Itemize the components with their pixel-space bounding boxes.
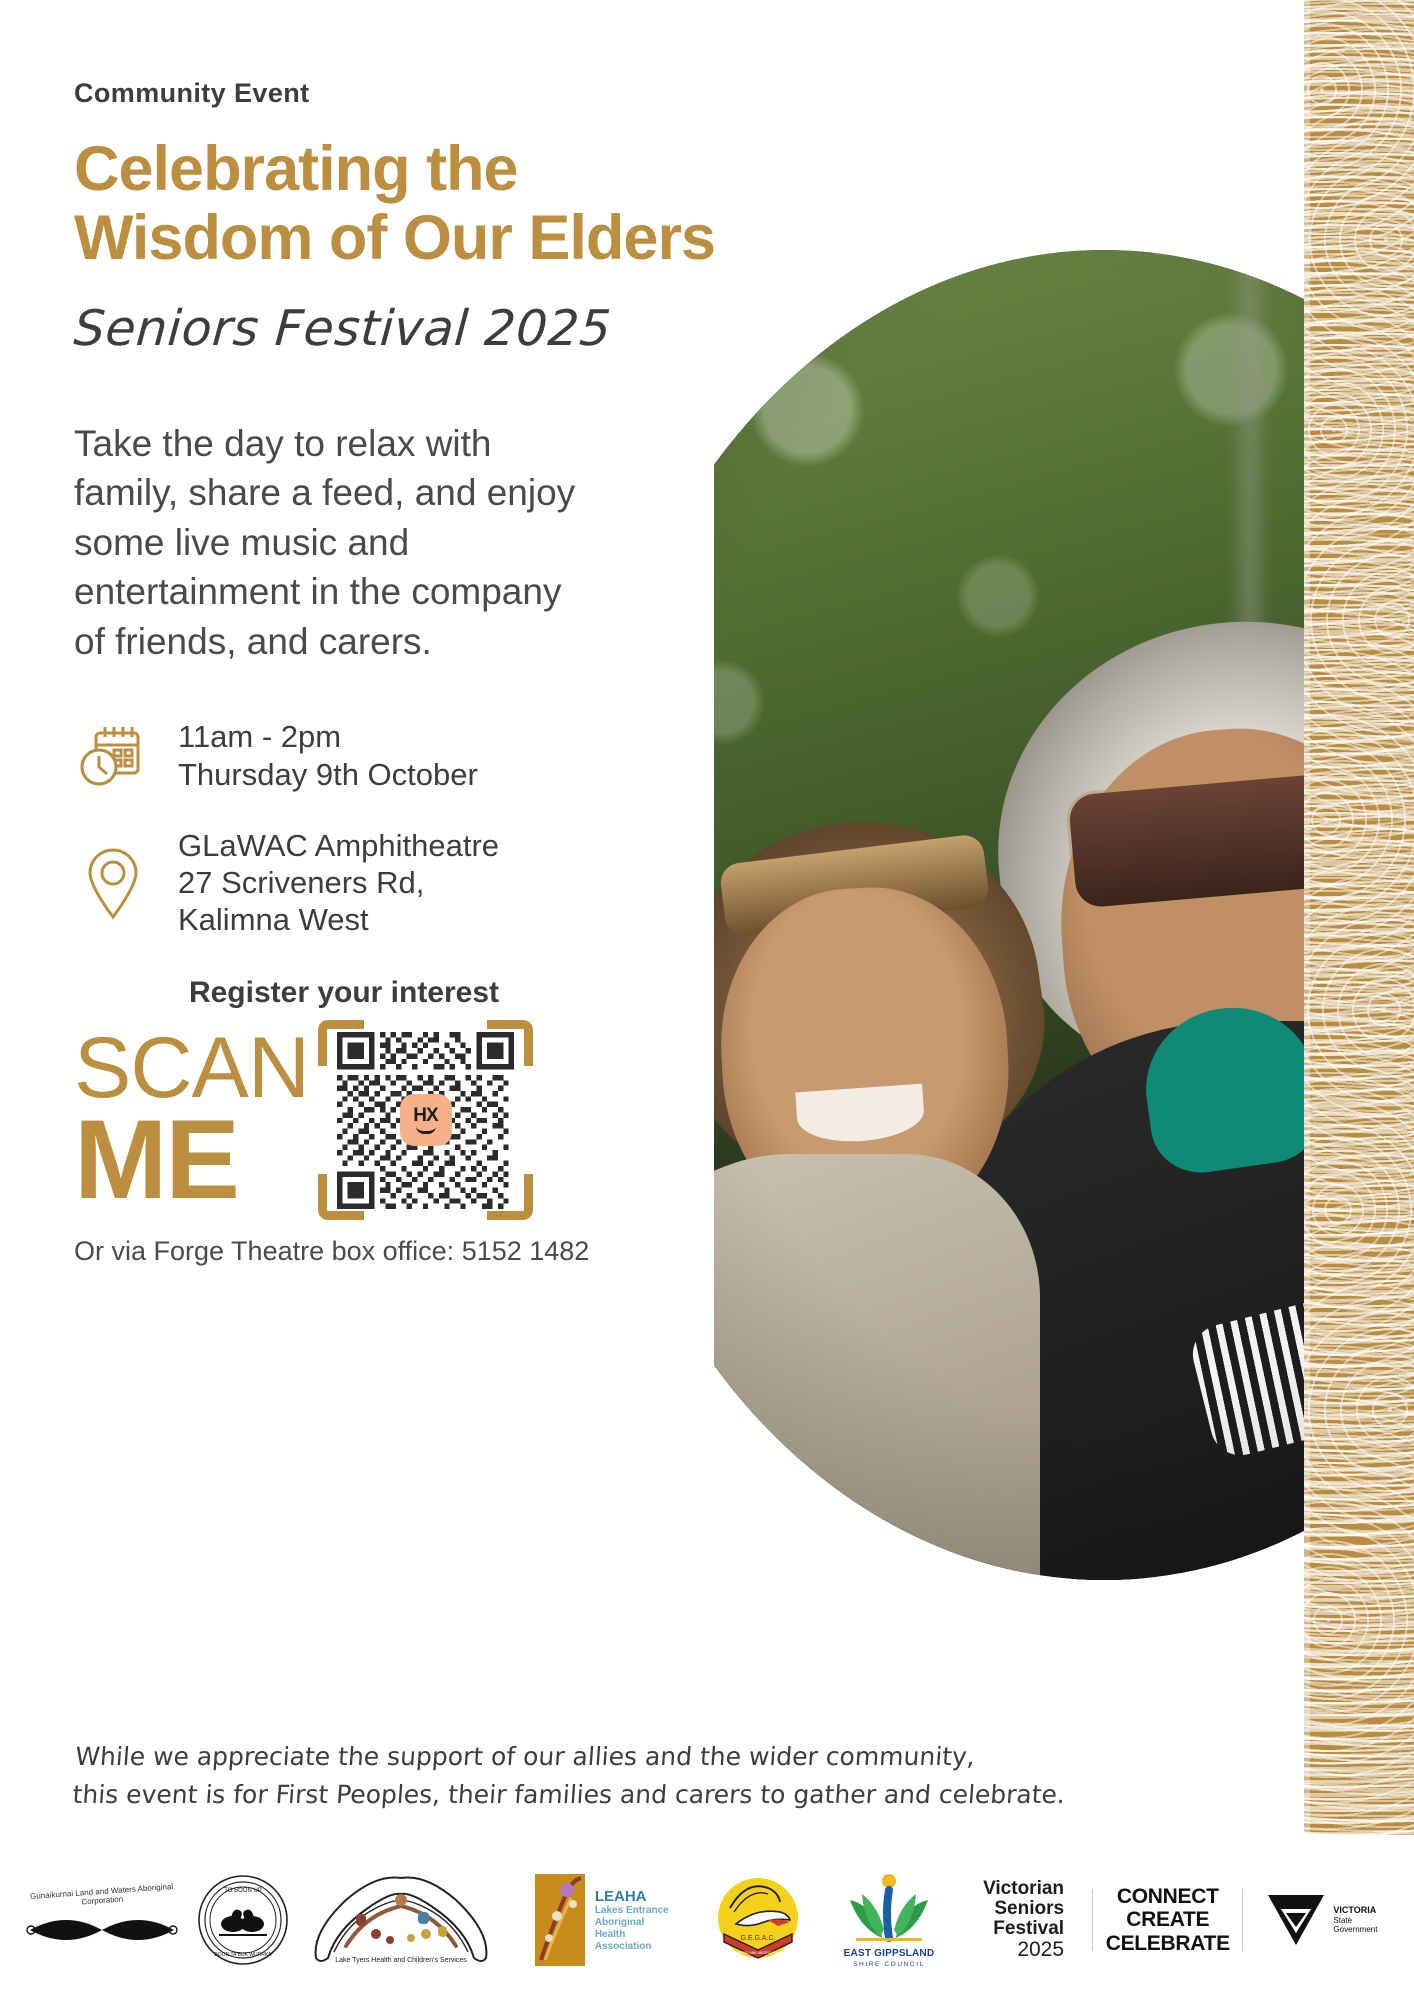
ccc-line-3: CELEBRATE <box>1106 1932 1230 1955</box>
ccc-text: CONNECT CREATE CELEBRATE <box>1106 1885 1230 1954</box>
poster-content: Community Event Celebrating the Wisdom o… <box>0 0 760 1267</box>
leaha-sub-3: Health <box>595 1929 669 1941</box>
lake-tyers-logo-label: Lake Tyers Health and Children's Service… <box>335 1957 467 1964</box>
qr-code-block[interactable]: HX <box>318 1020 533 1220</box>
seal-logo-mark: TO BOON UP BOON TA BUK WURRKA <box>197 1874 289 1966</box>
location-pin-icon <box>74 845 152 921</box>
vsf-line-3: Festival <box>983 1919 1064 1939</box>
victoria-logo-label: VICTORIA <box>1333 1905 1377 1916</box>
lake-tyers-logo: Lake Tyers Health and Children's Service… <box>303 1865 499 1975</box>
body-copy: Take the day to relax with family, share… <box>74 419 594 667</box>
vsf-text: Victorian Seniors Festival 2025 <box>983 1879 1064 1962</box>
register-title: Register your interest <box>74 976 614 1010</box>
leaha-logo-text: LEAHA Lakes Entrance Aboriginal Health A… <box>595 1888 669 1953</box>
partner-logo-strip: Gunaikurnai Land and Waters Aboriginal C… <box>0 1840 1414 2000</box>
logo-divider-1 <box>1092 1889 1093 1951</box>
logo-divider-2 <box>1242 1889 1243 1951</box>
box-office-line: Or via Forge Theatre box office: 5152 14… <box>74 1236 614 1267</box>
gegac-logo-sublabel: GIPPSLAND & EAST GIPPSLAND ABORIGINAL CO… <box>706 1951 810 1955</box>
register-block: Register your interest SCAN ME <box>74 976 614 1267</box>
detail-text-datetime: 11am - 2pm Thursday 9th October <box>178 718 478 792</box>
victoria-logo-sub-1: State <box>1333 1916 1377 1926</box>
victoria-logo-text: VICTORIA State Government <box>1333 1905 1377 1935</box>
glawac-logo-mark <box>26 1908 178 1952</box>
vsf-line-1: Victorian <box>983 1879 1064 1899</box>
connect-create-celebrate-logo: CONNECT CREATE CELEBRATE <box>1102 1865 1234 1975</box>
venue-suburb: Kalimna West <box>178 901 499 938</box>
event-date: Thursday 9th October <box>178 756 478 793</box>
smile-icon <box>416 1126 436 1134</box>
disclaimer-line-2: this event is for First Peoples, their f… <box>71 1776 1114 1814</box>
vsf-year: 2025 <box>983 1939 1064 1961</box>
detail-text-location: GLaWAC Amphitheatre 27 Scriveners Rd, Ka… <box>178 827 499 939</box>
detail-row-location: GLaWAC Amphitheatre 27 Scriveners Rd, Ka… <box>74 827 760 939</box>
detail-row-datetime: 11am - 2pm Thursday 9th October <box>74 718 760 792</box>
glawac-logo: Gunaikurnai Land and Waters Aboriginal C… <box>22 1865 182 1975</box>
ccc-line-1: CONNECT <box>1106 1885 1230 1908</box>
qr-badge-text: HX <box>413 1106 437 1125</box>
gegac-logo: G.E.G.A.C. GIPPSLAND & EAST GIPPSLAND AB… <box>702 1865 814 1975</box>
gegac-logo-label: G.E.G.A.C. <box>741 1935 776 1942</box>
victoria-logo-sub-2: Government <box>1333 1925 1377 1935</box>
svg-text:BOON TA BUK WURRKA: BOON TA BUK WURRKA <box>214 1952 272 1958</box>
east-gippsland-logo-sublabel: SHIRE COUNCIL <box>853 1961 925 1968</box>
gegac-logo-mark: G.E.G.A.C. GIPPSLAND & EAST GIPPSLAND AB… <box>706 1868 810 1972</box>
leaha-sub-1: Lakes Entrance <box>595 1905 669 1917</box>
qr-center-badge: HX <box>400 1094 452 1146</box>
victoria-state-government-logo: VICTORIA State Government <box>1252 1865 1392 1975</box>
leaha-sub-4: Association <box>595 1941 669 1953</box>
aboriginal-pattern-rings <box>1304 0 1414 1835</box>
seal-logo: TO BOON UP BOON TA BUK WURRKA <box>191 1865 295 1975</box>
me-word: ME <box>74 1108 314 1211</box>
leaha-logo-label: LEAHA <box>595 1888 669 1906</box>
disclaimer: While we appreciate the support of our a… <box>71 1738 1116 1814</box>
victoria-triangle-icon <box>1266 1893 1326 1947</box>
page-title: Celebrating the Wisdom of Our Elders <box>74 135 760 274</box>
lake-tyers-logo-mark: Lake Tyers Health and Children's Service… <box>306 1874 496 1966</box>
leaha-logo-mark <box>533 1872 587 1968</box>
victorian-seniors-festival-logo: Victorian Seniors Festival 2025 <box>964 1865 1084 1975</box>
leaha-logo: LEAHA Lakes Entrance Aboriginal Health A… <box>508 1865 694 1975</box>
east-gippsland-logo-label: EAST GIPPSLAND <box>844 1948 935 1959</box>
disclaimer-line-1: While we appreciate the support of our a… <box>74 1738 1117 1776</box>
leaha-sub-2: Aboriginal <box>595 1917 669 1929</box>
calendar-clock-icon <box>74 719 152 793</box>
event-time: 11am - 2pm <box>178 718 478 755</box>
east-gippsland-logo-mark <box>834 1872 944 1946</box>
subtitle: Seniors Festival 2025 <box>72 300 762 357</box>
scan-me-wordmark: SCAN ME <box>74 1029 314 1211</box>
decorative-border-strip <box>1304 0 1414 1835</box>
ccc-line-2: CREATE <box>1106 1908 1230 1931</box>
venue-name: GLaWAC Amphitheatre <box>178 827 499 864</box>
eyebrow-label: Community Event <box>74 78 760 109</box>
svg-text:TO BOON UP: TO BOON UP <box>224 1888 262 1894</box>
scan-me-row: SCAN ME <box>74 1020 614 1220</box>
vsf-line-2: Seniors <box>983 1899 1064 1919</box>
east-gippsland-shire-council-logo: EAST GIPPSLAND SHIRE COUNCIL <box>823 1865 955 1975</box>
border-strip-edge <box>1304 0 1310 1835</box>
glawac-logo-label: Gunaikurnai Land and Waters Aboriginal C… <box>27 1883 178 1911</box>
venue-street: 27 Scriveners Rd, <box>178 864 499 901</box>
